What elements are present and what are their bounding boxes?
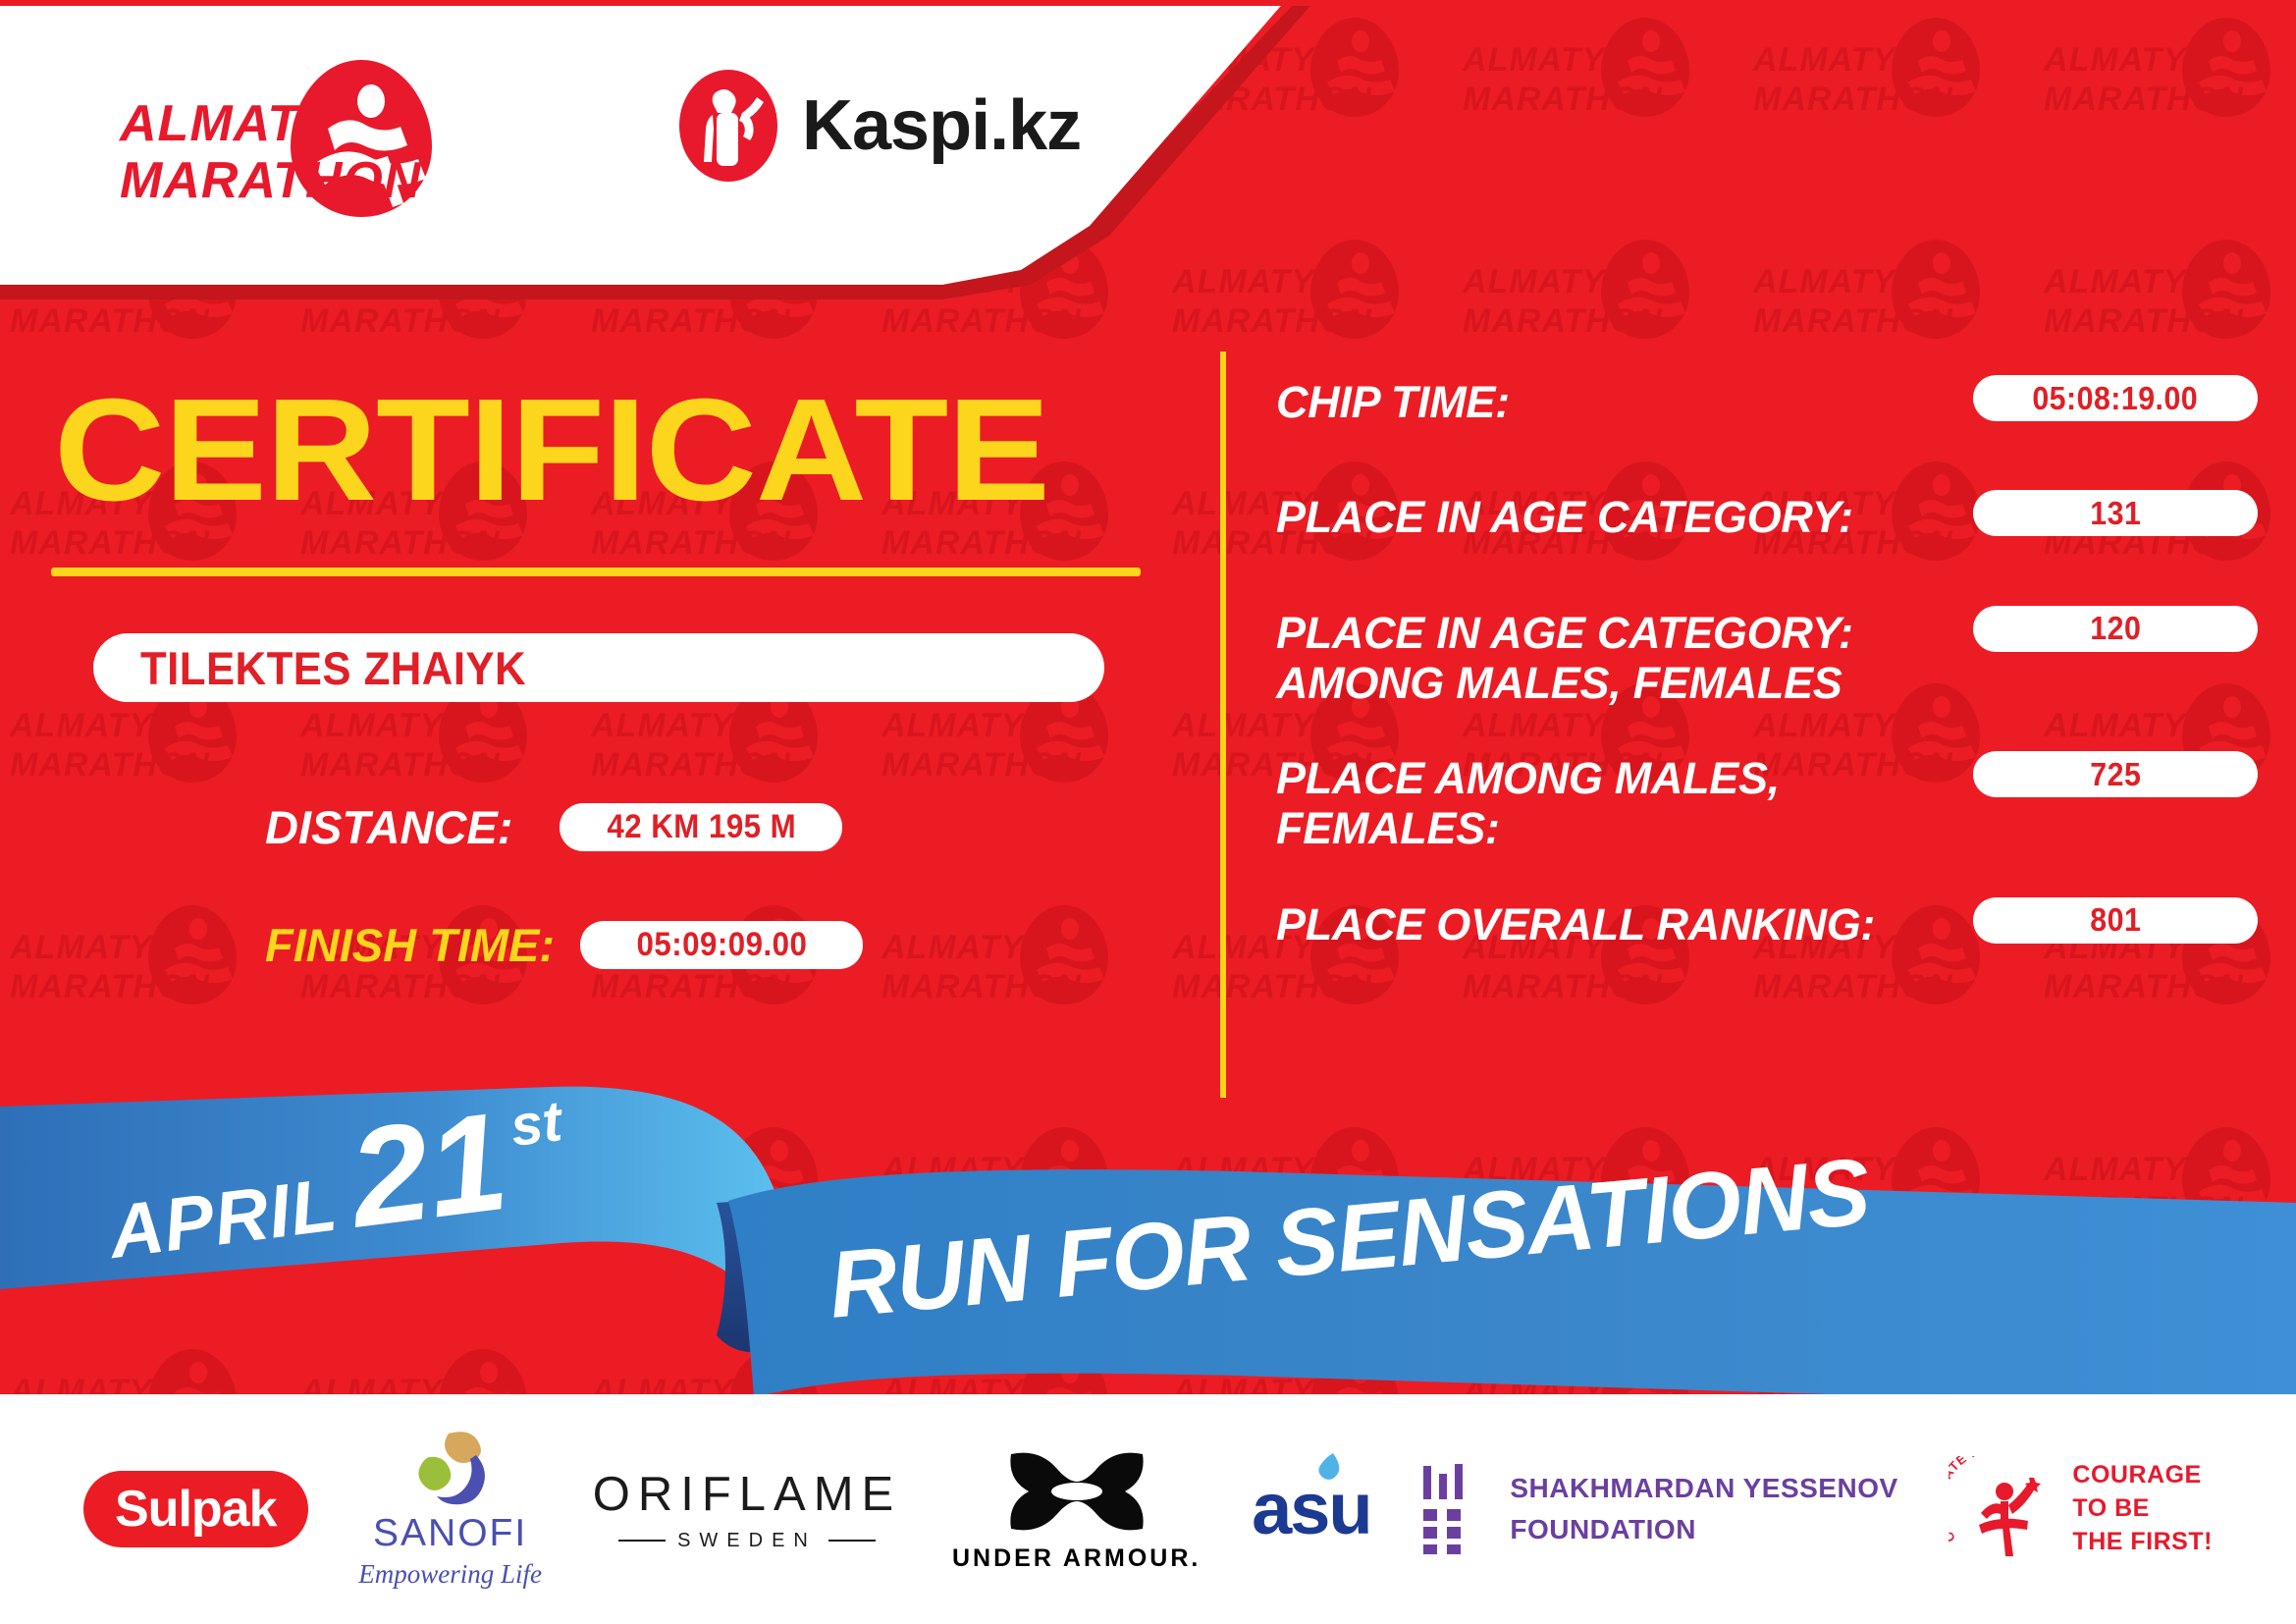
stat-value-pill: 05:08:19.00 — [1973, 375, 2258, 421]
column-divider — [1220, 352, 1226, 1098]
finish-time-value: 05:09:09.00 — [636, 926, 807, 964]
almaty-wordmark-line2: MARATHON — [120, 152, 422, 209]
certificate-page: ALMATY MARATHON ALMATY MARATHON — [0, 0, 2296, 1624]
courage-wordmark: COURAGE TO BE THE FIRST! — [2072, 1459, 2213, 1558]
stat-value: 801 — [2090, 901, 2141, 939]
stat-row-chip-time: CHIP TIME: 05:08:19.00 — [1276, 373, 2258, 427]
sponsor-sanofi: SANOFI Empowering Life — [358, 1430, 542, 1590]
courage-runner-icon: CORPORATE FUND — [1949, 1456, 2058, 1562]
distance-value: 42 KM 195 M — [607, 808, 796, 846]
stat-label: PLACE IN AGE CATEGORY: — [1276, 488, 1853, 542]
ribbon-day: 21 — [343, 1092, 514, 1250]
yessenov-wordmark: SHAKHMARDAN YESSENOV FOUNDATION — [1510, 1468, 1897, 1550]
courage-line2: TO BE — [2072, 1492, 2213, 1526]
sponsor-yessenov-foundation: SHAKHMARDAN YESSENOV FOUNDATION — [1421, 1464, 1897, 1554]
sponsor-sulpak: Sulpak — [83, 1471, 308, 1547]
distance-value-pill: 42 KM 195 M — [560, 803, 842, 851]
kaspi-wordmark: Kaspi.kz — [802, 85, 1081, 166]
stat-value-pill: 131 — [1973, 490, 2258, 536]
stat-value: 725 — [2090, 756, 2141, 793]
stat-value-pill: 725 — [1973, 751, 2258, 797]
yessenov-logo: SHAKHMARDAN YESSENOV FOUNDATION — [1421, 1464, 1897, 1554]
sanofi-mark-icon — [403, 1430, 498, 1508]
under-armour-mark-icon — [1003, 1446, 1150, 1537]
distance-row: DISTANCE: 42 KM 195 M — [265, 800, 842, 854]
oriflame-rule-left — [618, 1540, 666, 1542]
stat-value-pill: 120 — [1973, 606, 2258, 652]
top-accent-line — [0, 0, 2296, 6]
sponsor-courage-fund: CORPORATE FUND COURAGE TO BE — [1949, 1456, 2213, 1562]
courage-line3: THE FIRST! — [2072, 1526, 2213, 1559]
stat-label: PLACE IN AGE CATEGORY: AMONG MALES, FEMA… — [1276, 604, 1853, 709]
oriflame-wordmark: ORIFLAME — [593, 1467, 901, 1522]
results-stats-list: CHIP TIME: 05:08:19.00 PLACE IN AGE CATE… — [1276, 373, 2258, 949]
kaspi-person-icon — [677, 68, 780, 184]
title-divider — [51, 568, 1141, 576]
almaty-marathon-logo: ALMATY MARATHON — [118, 54, 442, 226]
stat-label: PLACE AMONG MALES, FEMALES: — [1276, 749, 1780, 854]
oriflame-rule-right — [828, 1540, 876, 1542]
asu-wordmark: asu — [1252, 1468, 1371, 1549]
stat-value: 05:08:19.00 — [2033, 380, 2199, 417]
sanofi-wordmark: SANOFI — [373, 1512, 527, 1555]
distance-label: DISTANCE: — [265, 800, 512, 854]
sponsor-bar: Sulpak SANOFI Empowering Life ORIFLAME S… — [0, 1394, 2296, 1624]
oriflame-subline: SWEDEN — [618, 1530, 876, 1552]
courage-line1: COURAGE — [2072, 1459, 2213, 1492]
sulpak-wordmark: Sulpak — [115, 1481, 277, 1538]
stat-value-pill: 801 — [1973, 897, 2258, 944]
stat-row-place-age-category: PLACE IN AGE CATEGORY: 131 — [1276, 488, 2258, 542]
almaty-wordmark-line1: ALMATY — [118, 95, 338, 152]
finish-time-label: FINISH TIME: — [265, 918, 555, 972]
stat-value: 131 — [2090, 495, 2141, 532]
yessenov-line1: SHAKHMARDAN YESSENOV — [1510, 1468, 1897, 1509]
yessenov-line2: FOUNDATION — [1510, 1509, 1897, 1550]
sanofi-tagline: Empowering Life — [358, 1559, 542, 1590]
stat-value: 120 — [2090, 610, 2141, 647]
sponsor-asu: asu — [1252, 1473, 1371, 1545]
yessenov-bars-icon — [1421, 1464, 1488, 1554]
sponsor-oriflame: ORIFLAME SWEDEN — [593, 1467, 901, 1552]
stat-row-place-overall: PLACE OVERALL RANKING: 801 — [1276, 895, 2258, 949]
stat-row-place-among-gender: PLACE AMONG MALES, FEMALES: 725 — [1276, 749, 2258, 854]
kaspi-logo: Kaspi.kz — [677, 67, 1090, 185]
sponsor-under-armour: UNDER ARMOUR. — [952, 1446, 1201, 1573]
courage-logo: CORPORATE FUND COURAGE TO BE — [1949, 1456, 2213, 1562]
oriflame-country: SWEDEN — [677, 1530, 817, 1552]
stat-row-place-age-category-gender: PLACE IN AGE CATEGORY: AMONG MALES, FEMA… — [1276, 604, 2258, 709]
under-armour-wordmark: UNDER ARMOUR. — [952, 1544, 1201, 1573]
asu-droplet-icon — [1312, 1451, 1342, 1485]
sulpak-logo: Sulpak — [83, 1471, 308, 1547]
athlete-name-field: TILEKTES ZHAIYK — [93, 633, 1104, 702]
page-title: CERTIFICATE — [54, 378, 1049, 523]
stat-label: PLACE OVERALL RANKING: — [1276, 895, 1875, 949]
stat-label: CHIP TIME: — [1276, 373, 1510, 427]
athlete-name: TILEKTES ZHAIYK — [140, 641, 526, 695]
ribbon-day-ordinal: st — [507, 1088, 565, 1160]
finish-time-value-pill: 05:09:09.00 — [580, 921, 863, 969]
finish-time-row: FINISH TIME: 05:09:09.00 — [265, 918, 863, 972]
